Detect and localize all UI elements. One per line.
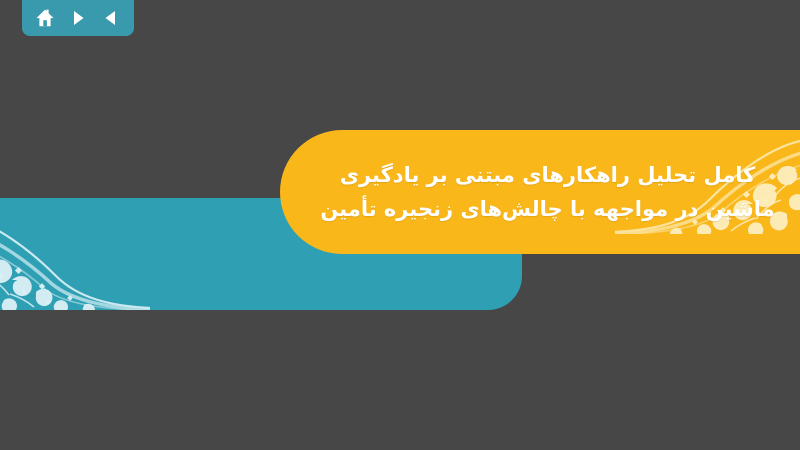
back-button[interactable] [98,5,124,31]
back-icon [102,9,120,27]
teal-arabesque-ornament [0,206,150,310]
title-line-2: ماشین در مواجهه با چالش‌های زنجیره تأمین [320,194,774,224]
home-button[interactable] [32,5,58,31]
navigation-bar [22,0,134,36]
title-line-1: کامل تحلیل راهکارهای مبتنی بر یادگیری [340,160,756,190]
forward-button[interactable] [65,5,91,31]
slide-canvas: کامل تحلیل راهکارهای مبتنی بر یادگیری ما… [0,0,800,450]
slide-title: کامل تحلیل راهکارهای مبتنی بر یادگیری ما… [280,130,800,254]
orange-title-banner: کامل تحلیل راهکارهای مبتنی بر یادگیری ما… [280,130,800,254]
forward-icon [69,9,87,27]
home-icon [35,8,55,28]
